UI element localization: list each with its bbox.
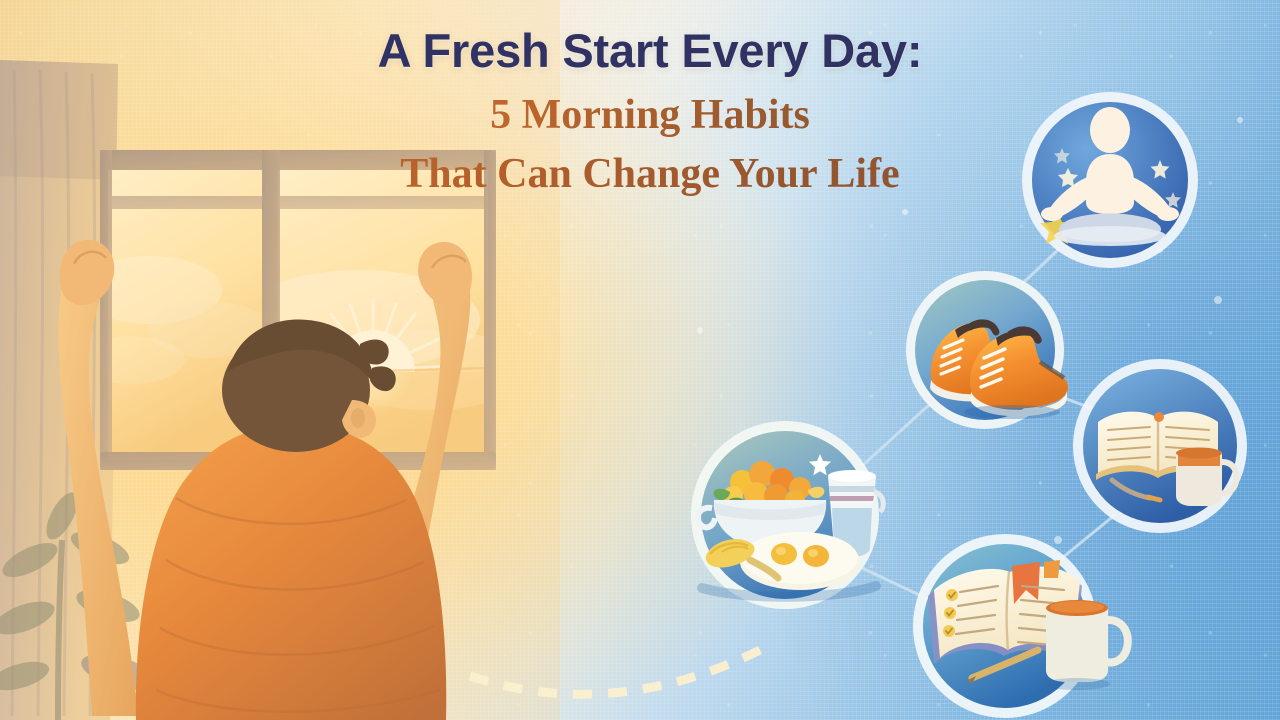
morning-habits-poster: A Fresh Start Every Day: 5 Morning Habit…: [0, 0, 1280, 720]
habit-circle-journaling[interactable]: [913, 534, 1128, 718]
subtitle-line-1: 5 Morning Habits: [300, 92, 1000, 139]
habit-circle-meditation[interactable]: [1022, 92, 1198, 268]
subtitle-line-2: That Can Change Your Life: [300, 151, 1000, 198]
habit-circle-breakfast[interactable]: [691, 421, 883, 609]
habit-circle-exercise[interactable]: [906, 271, 1068, 429]
habit-circle-reading[interactable]: [1073, 359, 1247, 533]
page-title: A Fresh Start Every Day:: [300, 26, 1000, 77]
title-block: A Fresh Start Every Day: 5 Morning Habit…: [300, 26, 1000, 198]
